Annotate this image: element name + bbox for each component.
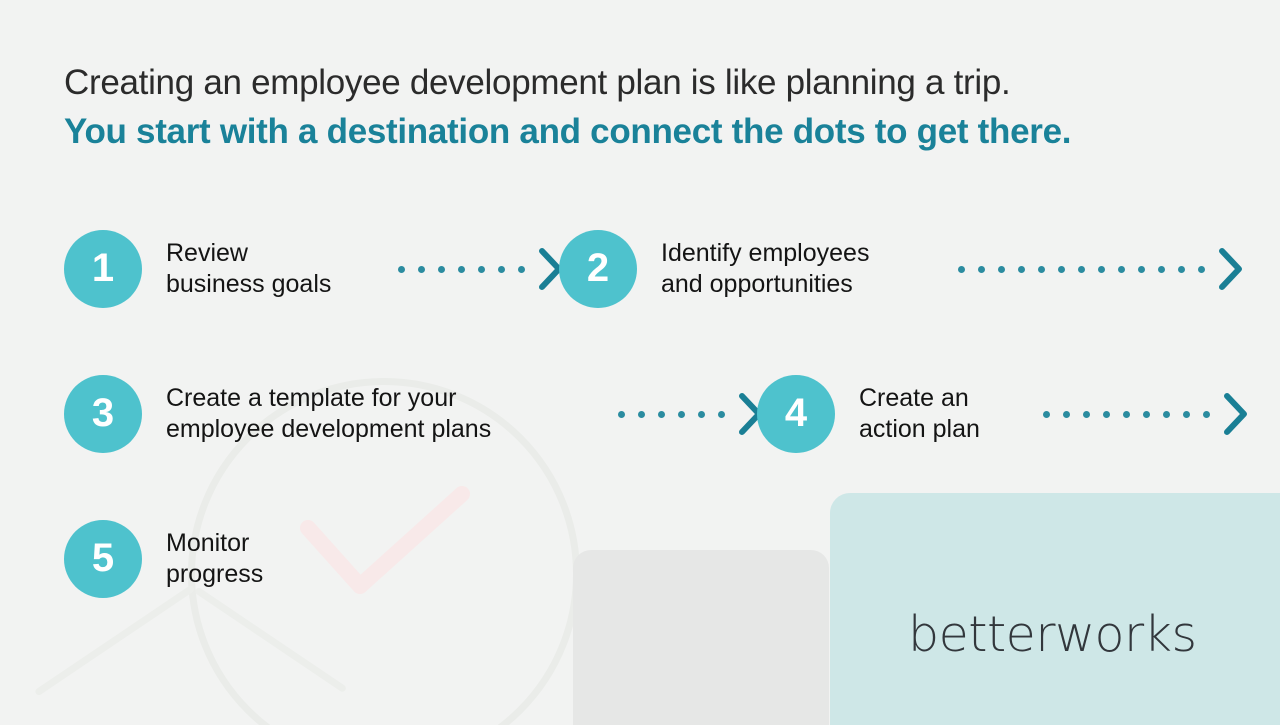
connector-dot [618, 411, 625, 418]
connector-dot [1143, 411, 1150, 418]
step-number-badge-3: 3 [64, 375, 142, 453]
step-label-4-line-2: action plan [859, 414, 980, 445]
connector-dot [678, 411, 685, 418]
step-label-1-line-1: Review [166, 238, 331, 269]
connector-dot [1063, 411, 1070, 418]
step-number-badge-2: 2 [559, 230, 637, 308]
step-label-3-line-1: Create a template for your [166, 383, 491, 414]
connector-dot [1078, 266, 1085, 273]
connector-dot [418, 266, 425, 273]
connector-dot [1178, 266, 1185, 273]
connector-dot [1123, 411, 1130, 418]
connector-dot [1158, 266, 1165, 273]
step-label-1-line-2: business goals [166, 269, 331, 300]
connector-dot [1058, 266, 1065, 273]
headline-line-1: Creating an employee development plan is… [64, 58, 1224, 107]
connector-dot [1183, 411, 1190, 418]
connector-dot [1138, 266, 1145, 273]
chevron-right-icon [1223, 392, 1249, 436]
watermark-checkmark-icon [300, 486, 470, 606]
connector-arrow-4 [1043, 392, 1249, 436]
gray-panel-shape [573, 550, 829, 725]
step-label-1: Review business goals [166, 238, 331, 300]
connector-arrow-3 [618, 392, 764, 436]
step-item-1: 1 Review business goals [64, 230, 331, 308]
step-label-4-line-1: Create an [859, 383, 980, 414]
connector-dot [1198, 266, 1205, 273]
connector-dot [518, 266, 525, 273]
connector-dot [458, 266, 465, 273]
connector-dot [958, 266, 965, 273]
step-label-2: Identify employees and opportunities [661, 238, 869, 300]
step-label-5: Monitor progress [166, 528, 263, 590]
headline: Creating an employee development plan is… [64, 58, 1224, 156]
step-item-3: 3 Create a template for your employee de… [64, 375, 491, 453]
connector-dot [1083, 411, 1090, 418]
step-number-badge-1: 1 [64, 230, 142, 308]
connector-dot [1018, 266, 1025, 273]
step-label-5-line-1: Monitor [166, 528, 263, 559]
step-item-4: 4 Create an action plan [757, 375, 980, 453]
connector-dot [1118, 266, 1125, 273]
connector-arrow-2 [958, 247, 1244, 291]
step-label-2-line-1: Identify employees [661, 238, 869, 269]
connector-dot [398, 266, 405, 273]
connector-dot [638, 411, 645, 418]
connector-dot [998, 266, 1005, 273]
watermark-line-shape [34, 584, 195, 696]
headline-line-2: You start with a destination and connect… [64, 107, 1224, 156]
connector-dot [1043, 411, 1050, 418]
connector-dot [718, 411, 725, 418]
step-item-2: 2 Identify employees and opportunities [559, 230, 869, 308]
connector-dots-4 [1043, 411, 1223, 418]
connector-arrow-1 [398, 247, 564, 291]
step-label-3: Create a template for your employee deve… [166, 383, 491, 445]
step-item-5: 5 Monitor progress [64, 520, 263, 598]
connector-dots-3 [618, 411, 738, 418]
watermark-line-shape [194, 587, 347, 693]
step-label-5-line-2: progress [166, 559, 263, 590]
step-label-2-line-2: and opportunities [661, 269, 869, 300]
step-label-4: Create an action plan [859, 383, 980, 445]
connector-dot [1098, 266, 1105, 273]
betterworks-logo: betterworks [908, 606, 1197, 663]
connector-dot [478, 266, 485, 273]
connector-dot [438, 266, 445, 273]
connector-dot [1103, 411, 1110, 418]
chevron-right-icon [1218, 247, 1244, 291]
connector-dot [1038, 266, 1045, 273]
step-number-badge-4: 4 [757, 375, 835, 453]
connector-dot [498, 266, 505, 273]
step-number-badge-5: 5 [64, 520, 142, 598]
infographic-canvas: Creating an employee development plan is… [0, 0, 1280, 725]
connector-dot [658, 411, 665, 418]
connector-dots-1 [398, 266, 538, 273]
connector-dot [1163, 411, 1170, 418]
connector-dot [1203, 411, 1210, 418]
step-label-3-line-2: employee development plans [166, 414, 491, 445]
connector-dot [698, 411, 705, 418]
connector-dots-2 [958, 266, 1218, 273]
connector-dot [978, 266, 985, 273]
